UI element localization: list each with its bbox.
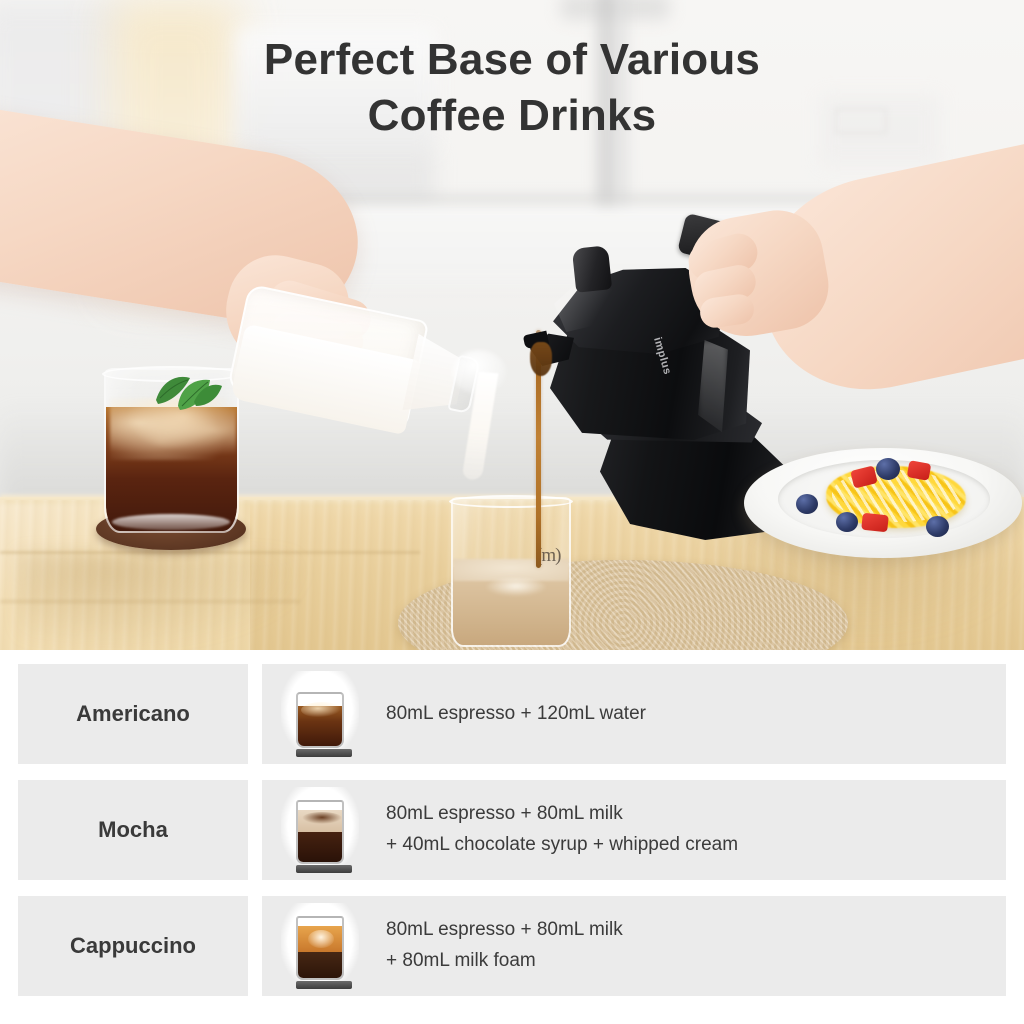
moka-spout-drip xyxy=(530,342,552,376)
pour-splash xyxy=(486,578,546,596)
blueberry xyxy=(876,458,900,480)
drink-name: Cappuccino xyxy=(70,933,196,959)
americano-cup-icon xyxy=(281,671,359,757)
drink-detail-cell: 80mL espresso + 80mL milk + 80mL milk fo… xyxy=(262,896,1006,996)
moka-pot-knob xyxy=(572,245,612,293)
cup-coaster xyxy=(296,981,352,989)
table-row: Cappuccino xyxy=(0,896,1024,996)
mocha-cup-icon xyxy=(281,787,359,873)
drink-description: 80mL espresso + 80mL milk + 80mL milk fo… xyxy=(378,915,1006,977)
drink-thumbnail-wrap xyxy=(262,664,378,764)
drink-detail-cell: 80mL espresso + 80mL milk + 40mL chocola… xyxy=(262,780,1006,880)
drink-name-cell: Mocha xyxy=(18,780,248,880)
drink-description: 80mL espresso + 80mL milk + 40mL chocola… xyxy=(378,799,1006,861)
cup-glass xyxy=(296,800,344,864)
page-root: (m) implus xyxy=(0,0,1024,1024)
latte-art-rosetta xyxy=(308,930,334,948)
drink-name: Americano xyxy=(76,701,190,727)
drink-thumbnail-wrap xyxy=(262,780,378,880)
hero-title: Perfect Base of Various Coffee Drinks xyxy=(0,32,1024,145)
cappuccino-coffee-layer xyxy=(298,948,342,978)
blueberry xyxy=(796,494,818,514)
cappuccino-cup-icon xyxy=(281,903,359,989)
mocha-coffee-layer xyxy=(298,828,342,862)
drink-thumbnail-wrap xyxy=(262,896,378,996)
tomato-piece xyxy=(907,460,932,481)
recipe-line: 80mL espresso + 80mL milk xyxy=(386,915,1006,946)
mint-leaf-garnish xyxy=(150,372,224,412)
recipe-line: + 80mL milk foam xyxy=(386,946,1006,977)
blueberry xyxy=(836,512,858,532)
table-row: Americano 80mL espress xyxy=(0,664,1024,764)
ice-highlight xyxy=(301,702,343,718)
recipe-line: + 40mL chocolate syrup + whipped cream xyxy=(386,830,1006,861)
cup-glass xyxy=(296,916,344,980)
cup-coaster xyxy=(296,865,352,873)
hero-title-line-1: Perfect Base of Various xyxy=(0,32,1024,88)
drink-name-cell: Americano xyxy=(18,664,248,764)
table-row: Mocha xyxy=(0,780,1024,880)
table-shadow xyxy=(18,552,318,650)
drink-name-cell: Cappuccino xyxy=(18,896,248,996)
drink-detail-cell: 80mL espresso + 120mL water xyxy=(262,664,1006,764)
drink-recipe-table: Americano 80mL espress xyxy=(0,650,1024,1024)
cup-graphic xyxy=(296,800,344,873)
drink-description: 80mL espresso + 120mL water xyxy=(378,699,1006,730)
chocolate-sprinkle xyxy=(302,812,342,824)
cup-coaster xyxy=(296,749,352,757)
drink-name: Mocha xyxy=(98,817,168,843)
cup-glass xyxy=(296,692,344,748)
tomato-piece xyxy=(861,513,889,533)
iced-glass-base-highlight xyxy=(112,514,230,530)
recipe-line: 80mL espresso + 80mL milk xyxy=(386,799,1006,830)
hero-photo: (m) implus xyxy=(0,0,1024,650)
recipe-line: 80mL espresso + 120mL water xyxy=(386,699,1006,730)
blueberry xyxy=(926,516,949,537)
hero-title-line-2: Coffee Drinks xyxy=(0,88,1024,144)
cup-graphic xyxy=(296,692,344,757)
cup-graphic xyxy=(296,916,344,989)
